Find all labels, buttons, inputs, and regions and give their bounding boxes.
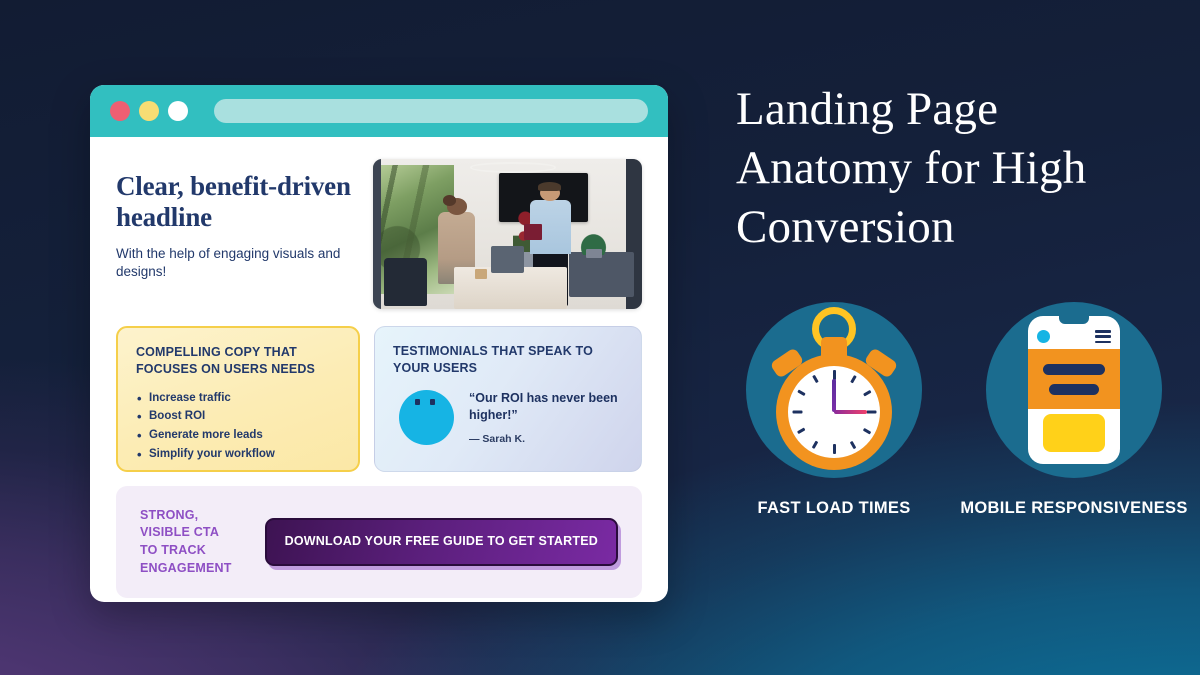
phone-hero-band: [1028, 349, 1120, 409]
stopwatch-icon: [759, 310, 909, 470]
feature-icon-circle: [746, 302, 922, 478]
phone-cta-button-icon: [1043, 414, 1105, 452]
feature-label: MOBILE RESPONSIVENESS: [960, 498, 1187, 519]
minimize-dot-icon[interactable]: [139, 101, 159, 121]
cta-label: STRONG, VISIBLE CTA TO TRACK ENGAGEMENT: [140, 507, 239, 578]
feature-cards-row: COMPELLING COPY THAT FOCUSES ON USERS NE…: [116, 326, 642, 472]
phone-notch-icon: [1059, 316, 1089, 324]
phone-logo-dot-icon: [1037, 330, 1050, 343]
card-title: COMPELLING COPY THAT FOCUSES ON USERS NE…: [136, 344, 340, 378]
stopwatch-face: [788, 366, 880, 458]
feature-icon-circle: [986, 302, 1162, 478]
testimonial-author: — Sarah K.: [469, 433, 623, 445]
phone-text-bar: [1043, 364, 1105, 375]
benefits-list: Increase traffic Boost ROI Generate more…: [136, 389, 340, 464]
address-bar-input[interactable]: [214, 99, 648, 123]
right-panel: Landing Page Anatomy for High Conversion: [700, 0, 1200, 675]
testimonial-body: “Our ROI has never been higher!” — Sarah…: [393, 390, 623, 445]
browser-content: Clear, benefit-driven headline With the …: [90, 137, 668, 602]
feature-fast-load-times: FAST LOAD TIMES: [714, 302, 954, 519]
stopwatch-body: [776, 354, 892, 470]
card-compelling-copy: COMPELLING COPY THAT FOCUSES ON USERS NE…: [116, 326, 360, 472]
list-item: Simplify your workflow: [136, 445, 340, 464]
testimonial-text: “Our ROI has never been higher!” — Sarah…: [469, 390, 623, 445]
list-item: Increase traffic: [136, 389, 340, 408]
card-testimonials: TESTIMONIALS THAT SPEAK TO YOUR USERS “O…: [374, 326, 642, 472]
hero-text-block: Clear, benefit-driven headline With the …: [116, 159, 351, 309]
avatar-eye-left-icon: [415, 399, 420, 405]
maximize-dot-icon[interactable]: [168, 101, 188, 121]
testimonial-quote: “Our ROI has never been higher!”: [469, 390, 623, 424]
hamburger-menu-icon: [1095, 330, 1111, 343]
avatar-eye-right-icon: [430, 399, 435, 405]
card-title: TESTIMONIALS THAT SPEAK TO YOUR USERS: [393, 343, 623, 377]
cta-section: STRONG, VISIBLE CTA TO TRACK ENGAGEMENT …: [116, 486, 642, 598]
page-subheadline: With the help of engaging visuals and de…: [116, 245, 351, 281]
download-guide-button[interactable]: DOWNLOAD YOUR FREE GUIDE TO GET STARTED: [265, 518, 618, 566]
stopwatch-minute-hand-icon: [832, 379, 836, 412]
browser-window-mockup: Clear, benefit-driven headline With the …: [90, 85, 668, 602]
list-item: Boost ROI: [136, 407, 340, 426]
hero-section: Clear, benefit-driven headline With the …: [116, 159, 642, 309]
phone-text-bar: [1049, 384, 1099, 395]
feature-label: FAST LOAD TIMES: [758, 498, 911, 519]
features-row: FAST LOAD TIMES: [714, 302, 1194, 519]
page-headline: Clear, benefit-driven headline: [116, 171, 351, 234]
list-item: Generate more leads: [136, 426, 340, 445]
phone-topbar: [1028, 324, 1120, 348]
page-title: Landing Page Anatomy for High Conversion: [736, 80, 1176, 258]
hero-photo: [373, 159, 642, 309]
stopwatch-second-hand-icon: [834, 410, 867, 414]
feature-mobile-responsiveness: MOBILE RESPONSIVENESS: [954, 302, 1194, 519]
browser-titlebar: [90, 85, 668, 137]
mobile-phone-icon: [1028, 316, 1120, 464]
close-dot-icon[interactable]: [110, 101, 130, 121]
avatar: [399, 390, 454, 445]
